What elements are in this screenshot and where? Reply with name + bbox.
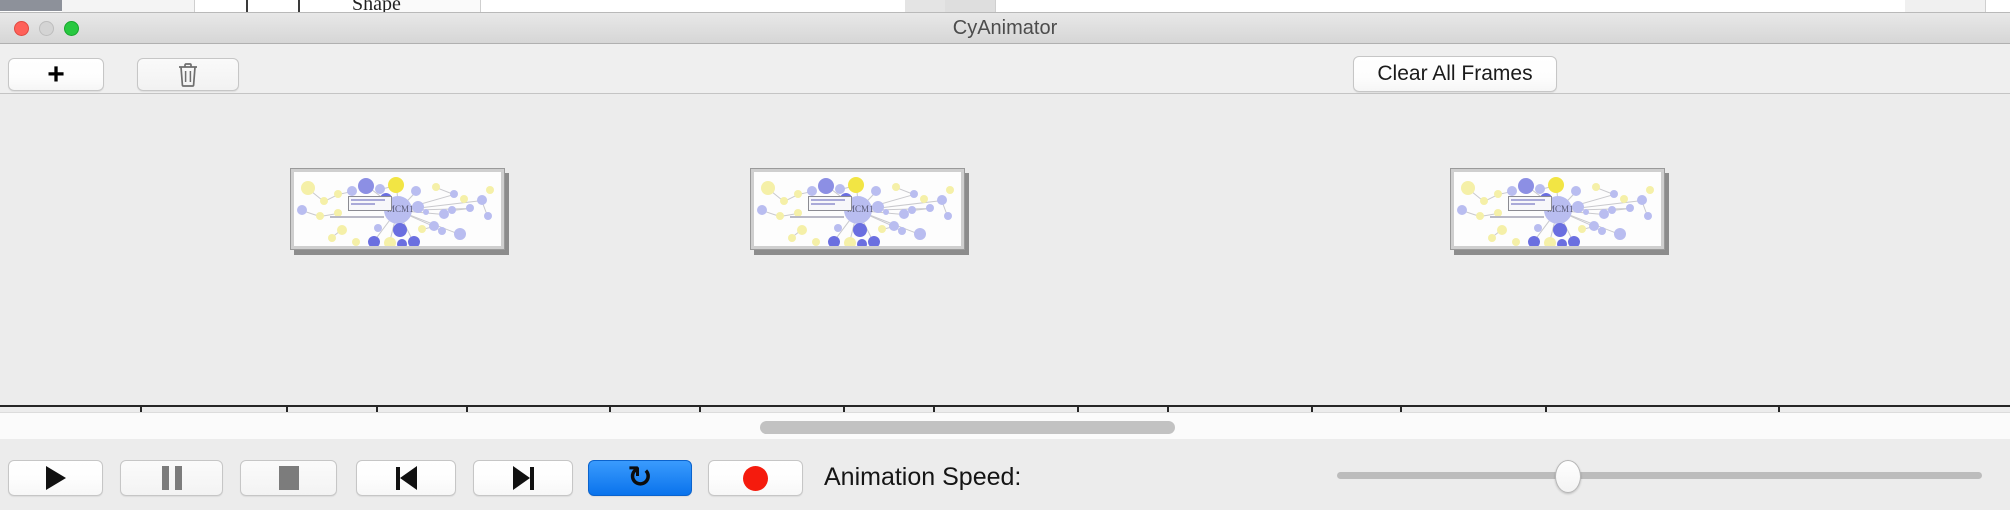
timeline-scrollbar-thumb[interactable]: [760, 421, 1175, 434]
network-node: [1637, 195, 1647, 205]
network-node: [937, 195, 947, 205]
network-node: [460, 195, 468, 203]
network-node: [1528, 236, 1540, 246]
network-node: [1578, 225, 1586, 233]
frame-pane: MCM1: [290, 168, 505, 250]
animation-speed-slider-thumb[interactable]: [1555, 460, 1581, 493]
next-frame-button[interactable]: [473, 460, 573, 496]
network-node: [1512, 238, 1520, 246]
network-node: [388, 177, 404, 193]
delete-frame-button[interactable]: [137, 58, 239, 91]
network-node: [1646, 186, 1654, 194]
plus-icon: +: [47, 60, 65, 90]
network-node: [466, 204, 474, 212]
pause-icon: [162, 466, 182, 490]
network-node: [920, 195, 928, 203]
network-node: [1568, 236, 1580, 246]
network-node: [1494, 190, 1502, 198]
network-node: [780, 197, 788, 205]
network-node: [301, 181, 315, 195]
background-window-strip: Shape: [0, 0, 2010, 13]
network-node: [1583, 209, 1589, 215]
network-node: [776, 212, 784, 220]
network-node: [1544, 237, 1556, 246]
stop-icon: [279, 466, 299, 490]
network-node: [914, 228, 926, 240]
timeline-frame[interactable]: MCM1: [750, 168, 965, 250]
network-node: [1553, 223, 1567, 237]
animation-speed-label: Animation Speed:: [824, 463, 1021, 492]
network-node: [1488, 234, 1496, 242]
network-node: [484, 212, 492, 220]
network-node: [337, 225, 347, 235]
network-node: [1518, 178, 1534, 194]
network-node: [1626, 204, 1634, 212]
play-button[interactable]: [8, 460, 103, 496]
network-node: [450, 190, 458, 198]
network-node: [828, 236, 840, 246]
network-node: [761, 181, 775, 195]
network-node: [1592, 183, 1600, 191]
network-tooltip-text-line: [351, 199, 385, 201]
network-node: [844, 237, 856, 246]
network-node: [374, 224, 382, 232]
network-node: [910, 190, 918, 198]
timeline-frame[interactable]: MCM1: [1450, 168, 1665, 250]
network-node: [1557, 239, 1567, 246]
network-node: [853, 223, 867, 237]
network-node: [1608, 206, 1616, 214]
network-node: [320, 197, 328, 205]
network-tooltip-text-line: [351, 203, 375, 205]
network-node: [818, 178, 834, 194]
animation-speed-slider-track[interactable]: [1337, 472, 1982, 479]
network-node: [1497, 225, 1507, 235]
network-node: [1476, 212, 1484, 220]
add-frame-button[interactable]: +: [8, 58, 104, 91]
network-node: [352, 238, 360, 246]
network-node: [408, 236, 420, 246]
network-node: [1457, 205, 1467, 215]
window-titlebar: CyAnimator: [0, 13, 2010, 44]
network-node: [432, 183, 440, 191]
network-node: [411, 186, 421, 196]
network-node: [384, 237, 396, 246]
network-node: [1598, 227, 1606, 235]
network-node: [898, 227, 906, 235]
network-tooltip-text-line: [811, 199, 845, 201]
network-node: [334, 190, 342, 198]
network-node: [358, 178, 374, 194]
network-node: [908, 206, 916, 214]
timeline-panel[interactable]: MCM1MCM1MCM1 2131415161718 Seconds: [0, 94, 2010, 412]
play-icon: [46, 466, 66, 490]
network-node: [946, 186, 954, 194]
network-node: [1507, 186, 1517, 196]
network-annotation-line: [330, 216, 384, 218]
timeline-axis: [0, 405, 2010, 407]
network-node: [328, 234, 336, 242]
network-annotation-line: [790, 216, 844, 218]
network-node: [848, 177, 864, 193]
network-node: [368, 236, 380, 246]
loop-icon: ↻: [627, 463, 652, 493]
network-node: [812, 238, 820, 246]
network-node: [438, 227, 446, 235]
network-node: [1614, 228, 1626, 240]
network-node: [794, 190, 802, 198]
network-node: [1480, 197, 1488, 205]
network-node: [1644, 212, 1652, 220]
background-titlebar-chip: [0, 0, 62, 11]
frame-toolbar: [0, 44, 2010, 94]
network-node: [926, 204, 934, 212]
network-node: [347, 186, 357, 196]
network-node: [1610, 190, 1618, 198]
network-node: [393, 223, 407, 237]
network-tooltip-text-line: [1511, 199, 1545, 201]
frame-pane: MCM1: [1450, 168, 1665, 250]
network-node: [757, 205, 767, 215]
network-node: [807, 186, 817, 196]
record-button[interactable]: [708, 460, 803, 496]
network-node: [418, 225, 426, 233]
network-node: [397, 239, 407, 246]
frame-network-thumbnail: MCM1: [1454, 172, 1661, 246]
trash-icon: [177, 62, 199, 88]
frame-network-thumbnail: MCM1: [294, 172, 501, 246]
network-tooltip-text-line: [811, 203, 835, 205]
network-node: [834, 224, 842, 232]
network-node: [297, 205, 307, 215]
clear-all-frames-button[interactable]: Clear All Frames: [1353, 56, 1557, 92]
network-node: [448, 206, 456, 214]
network-node: [944, 212, 952, 220]
clear-all-frames-label: Clear All Frames: [1377, 62, 1532, 86]
skip-previous-icon: [396, 466, 417, 490]
network-node: [878, 225, 886, 233]
frame-pane: MCM1: [750, 168, 965, 250]
timeline-frame[interactable]: MCM1: [290, 168, 505, 250]
network-node: [797, 225, 807, 235]
network-node: [454, 228, 466, 240]
network-node: [423, 209, 429, 215]
frame-network-thumbnail: MCM1: [754, 172, 961, 246]
network-node: [788, 234, 796, 242]
loop-toggle-button[interactable]: ↻: [588, 460, 692, 496]
pause-button[interactable]: [120, 460, 223, 496]
previous-frame-button[interactable]: [356, 460, 456, 496]
network-node: [1620, 195, 1628, 203]
network-node: [857, 239, 867, 246]
stop-button[interactable]: [240, 460, 337, 496]
record-icon: [743, 466, 768, 491]
skip-next-icon: [513, 466, 534, 490]
network-node: [871, 186, 881, 196]
network-annotation-line: [1490, 216, 1544, 218]
network-tooltip-text-line: [1511, 203, 1535, 205]
network-node: [1461, 181, 1475, 195]
network-node: [1548, 177, 1564, 193]
network-node: [1534, 224, 1542, 232]
network-node: [868, 236, 880, 246]
network-node: [316, 212, 324, 220]
window-title: CyAnimator: [0, 13, 2010, 43]
cyanimator-window: Shape CyAnimator + Clear All Frames MCM1…: [0, 0, 2010, 510]
network-node: [883, 209, 889, 215]
network-node: [892, 183, 900, 191]
network-node: [477, 195, 487, 205]
network-node: [1571, 186, 1581, 196]
network-node: [486, 186, 494, 194]
